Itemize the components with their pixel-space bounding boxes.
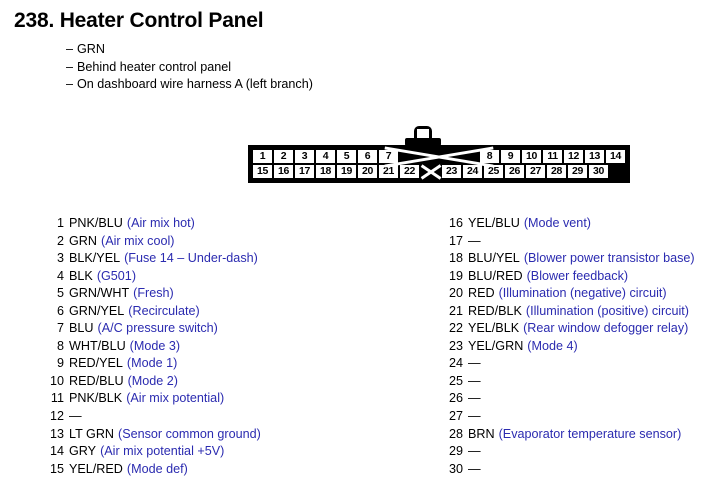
pin-number: 15 <box>47 461 64 479</box>
pin-description: (Mode 3) <box>130 339 180 353</box>
pin-row: 13LT GRN(Sensor common ground) <box>47 426 261 444</box>
connector-blank-slot <box>400 150 478 163</box>
pin-description: (Air mix potential +5V) <box>100 444 224 458</box>
pin-row: 18BLU/YEL(Blower power transistor base) <box>446 250 695 268</box>
pin-row: 5GRN/WHT(Fresh) <box>47 285 261 303</box>
pin-number: 24 <box>446 355 463 373</box>
pin-row: 9RED/YEL(Mode 1) <box>47 355 261 373</box>
note-text: On dashboard wire harness A (left branch… <box>77 77 313 91</box>
pin-number: 14 <box>47 443 64 461</box>
component-notes: –GRN –Behind heater control panel –On da… <box>66 41 313 94</box>
connector-pin-7[interactable]: 7 <box>379 150 398 163</box>
pin-number: 11 <box>47 390 64 408</box>
connector-pin-15[interactable]: 15 <box>253 165 272 178</box>
connector-pin-12[interactable]: 12 <box>564 150 583 163</box>
connector-pin-19[interactable]: 19 <box>337 165 356 178</box>
pin-number: 4 <box>47 268 64 286</box>
connector-pin-14[interactable]: 14 <box>606 150 625 163</box>
pin-list-left: 1PNK/BLU(Air mix hot)2GRN(Air mix cool)3… <box>47 215 261 478</box>
pin-description: (G501) <box>97 269 136 283</box>
pin-number: 8 <box>47 338 64 356</box>
pin-wire-code: GRN/WHT <box>69 286 129 300</box>
pin-row: 6GRN/YEL(Recirculate) <box>47 303 261 321</box>
pin-description: (Air mix cool) <box>101 234 174 248</box>
pin-row: 19BLU/RED(Blower feedback) <box>446 268 695 286</box>
connector-pin-24[interactable]: 24 <box>463 165 482 178</box>
pin-row: 30— <box>446 461 695 479</box>
pin-wire-code: BLK/YEL <box>69 251 120 265</box>
pin-unused-marker: — <box>468 356 481 370</box>
pin-number: 20 <box>446 285 463 303</box>
pin-row: 10RED/BLU(Mode 2) <box>47 373 261 391</box>
connector-pin-18[interactable]: 18 <box>316 165 335 178</box>
connector-pin-25[interactable]: 25 <box>484 165 503 178</box>
connector-pin-1[interactable]: 1 <box>253 150 272 163</box>
connector-pin-3[interactable]: 3 <box>295 150 314 163</box>
pin-row: 27— <box>446 408 695 426</box>
pin-number: 23 <box>446 338 463 356</box>
page-title: 238. Heater Control Panel <box>14 9 263 33</box>
pin-row: 2GRN(Air mix cool) <box>47 233 261 251</box>
pin-number: 1 <box>47 215 64 233</box>
pin-number: 22 <box>446 320 463 338</box>
pin-wire-code: BLU/RED <box>468 269 523 283</box>
note-line: –On dashboard wire harness A (left branc… <box>66 76 313 94</box>
pin-description: (Air mix hot) <box>127 216 195 230</box>
pin-wire-code: RED <box>468 286 495 300</box>
pin-description: (Air mix potential) <box>126 391 224 405</box>
pin-description: (Rear window defogger relay) <box>523 321 688 335</box>
connector-pin-27[interactable]: 27 <box>526 165 545 178</box>
pin-description: (Blower power transistor base) <box>524 251 695 265</box>
pin-row: 22YEL/BLK(Rear window defogger relay) <box>446 320 695 338</box>
pin-number: 29 <box>446 443 463 461</box>
pin-row: 12— <box>47 408 261 426</box>
pin-row: 25— <box>446 373 695 391</box>
pin-number: 16 <box>446 215 463 233</box>
pin-number: 26 <box>446 390 463 408</box>
pin-row: 7BLU(A/C pressure switch) <box>47 320 261 338</box>
note-dash: – <box>66 76 77 94</box>
note-text: Behind heater control panel <box>77 60 231 74</box>
pin-description: (Illumination (negative) circuit) <box>499 286 667 300</box>
pin-row: 11PNK/BLK(Air mix potential) <box>47 390 261 408</box>
note-line: –GRN <box>66 41 313 59</box>
connector-pin-10[interactable]: 10 <box>522 150 541 163</box>
pin-number: 25 <box>446 373 463 391</box>
pin-description: (Mode 2) <box>128 374 178 388</box>
pin-number: 28 <box>446 426 463 444</box>
pin-wire-code: PNK/BLK <box>69 391 122 405</box>
connector-pin-17[interactable]: 17 <box>295 165 314 178</box>
pin-row: 26— <box>446 390 695 408</box>
pin-unused-marker: — <box>468 444 481 458</box>
pin-number: 30 <box>446 461 463 479</box>
connector-pin-22[interactable]: 22 <box>400 165 419 178</box>
note-text: GRN <box>77 42 105 56</box>
connector-pin-5[interactable]: 5 <box>337 150 356 163</box>
pin-description: (Sensor common ground) <box>118 427 261 441</box>
pin-unused-marker: — <box>69 409 82 423</box>
note-dash: – <box>66 59 77 77</box>
pin-wire-code: GRY <box>69 444 96 458</box>
connector-pin-8[interactable]: 8 <box>480 150 499 163</box>
pin-description: (Illumination (positive) circuit) <box>526 304 689 318</box>
pin-row: 16YEL/BLU(Mode vent) <box>446 215 695 233</box>
pin-description: (Mode 1) <box>127 356 177 370</box>
pin-description: (Fuse 14 – Under-dash) <box>124 251 258 265</box>
pin-wire-code: RED/BLU <box>69 374 124 388</box>
connector-pin-2[interactable]: 2 <box>274 150 293 163</box>
pin-wire-code: GRN/YEL <box>69 304 124 318</box>
pin-wire-code: YEL/RED <box>69 462 123 476</box>
connector-pin-29[interactable]: 29 <box>568 165 587 178</box>
pin-number: 18 <box>446 250 463 268</box>
connector-pin-13[interactable]: 13 <box>585 150 604 163</box>
pin-row: 17— <box>446 233 695 251</box>
pin-description: (Mode 4) <box>527 339 577 353</box>
pin-unused-marker: — <box>468 462 481 476</box>
pin-number: 3 <box>47 250 64 268</box>
pin-description: (Blower feedback) <box>527 269 629 283</box>
connector-pin-16[interactable]: 16 <box>274 165 293 178</box>
connector-pin-11[interactable]: 11 <box>543 150 562 163</box>
pin-number: 9 <box>47 355 64 373</box>
pin-number: 12 <box>47 408 64 426</box>
pin-list-right: 16YEL/BLU(Mode vent)17—18BLU/YEL(Blower … <box>446 215 695 478</box>
note-line: –Behind heater control panel <box>66 59 313 77</box>
note-dash: – <box>66 41 77 59</box>
pin-wire-code: YEL/BLU <box>468 216 520 230</box>
pin-row: 4BLK(G501) <box>47 268 261 286</box>
pin-number: 7 <box>47 320 64 338</box>
pin-unused-marker: — <box>468 374 481 388</box>
connector-pin-20[interactable]: 20 <box>358 165 377 178</box>
pin-wire-code: BLK <box>69 269 93 283</box>
pin-number: 5 <box>47 285 64 303</box>
pin-wire-code: WHT/BLU <box>69 339 126 353</box>
pin-number: 27 <box>446 408 463 426</box>
connector-pin-4[interactable]: 4 <box>316 150 335 163</box>
pin-row: 1PNK/BLU(Air mix hot) <box>47 215 261 233</box>
connector-blank-slot <box>421 165 440 178</box>
pin-row: 28BRN(Evaporator temperature sensor) <box>446 426 695 444</box>
pin-description: (A/C pressure switch) <box>98 321 218 335</box>
pin-row: 29— <box>446 443 695 461</box>
pin-unused-marker: — <box>468 391 481 405</box>
pin-number: 2 <box>47 233 64 251</box>
pin-description: (Fresh) <box>133 286 174 300</box>
pin-row: 21RED/BLK(Illumination (positive) circui… <box>446 303 695 321</box>
pin-description: (Recirculate) <box>128 304 199 318</box>
pin-number: 10 <box>47 373 64 391</box>
connector-pin-9[interactable]: 9 <box>501 150 520 163</box>
pin-number: 13 <box>47 426 64 444</box>
pin-row: 23YEL/GRN(Mode 4) <box>446 338 695 356</box>
connector-top-row: 1234567891011121314 <box>253 150 625 163</box>
pin-unused-marker: — <box>468 234 481 248</box>
connector-pin-28[interactable]: 28 <box>547 165 566 178</box>
pin-row: 8WHT/BLU(Mode 3) <box>47 338 261 356</box>
connector-pin-26[interactable]: 26 <box>505 165 524 178</box>
pin-wire-code: RED/YEL <box>69 356 123 370</box>
pin-description: (Mode def) <box>127 462 188 476</box>
pin-row: 15YEL/RED(Mode def) <box>47 461 261 479</box>
pin-description: (Mode vent) <box>524 216 591 230</box>
pin-row: 14GRY(Air mix potential +5V) <box>47 443 261 461</box>
pin-number: 21 <box>446 303 463 321</box>
connector-bottom-row: 15161718192021222324252627282930 <box>253 165 625 178</box>
pin-row: 24— <box>446 355 695 373</box>
pin-wire-code: BLU <box>69 321 94 335</box>
connector-pin-30[interactable]: 30 <box>589 165 608 178</box>
pin-wire-code: YEL/BLK <box>468 321 519 335</box>
pin-number: 17 <box>446 233 463 251</box>
pin-row: 20RED(Illumination (negative) circuit) <box>446 285 695 303</box>
pin-wire-code: BLU/YEL <box>468 251 520 265</box>
pin-unused-marker: — <box>468 409 481 423</box>
pin-wire-code: RED/BLK <box>468 304 522 318</box>
pin-wire-code: LT GRN <box>69 427 114 441</box>
pin-row: 3BLK/YEL(Fuse 14 – Under-dash) <box>47 250 261 268</box>
pin-wire-code: GRN <box>69 234 97 248</box>
pin-wire-code: YEL/GRN <box>468 339 523 353</box>
pin-description: (Evaporator temperature sensor) <box>499 427 682 441</box>
connector-pin-6[interactable]: 6 <box>358 150 377 163</box>
pin-number: 19 <box>446 268 463 286</box>
pin-number: 6 <box>47 303 64 321</box>
connector-body: 1234567891011121314 15161718192021222324… <box>248 145 630 183</box>
connector-pin-23[interactable]: 23 <box>442 165 461 178</box>
pin-wire-code: BRN <box>468 427 495 441</box>
pin-wire-code: PNK/BLU <box>69 216 123 230</box>
